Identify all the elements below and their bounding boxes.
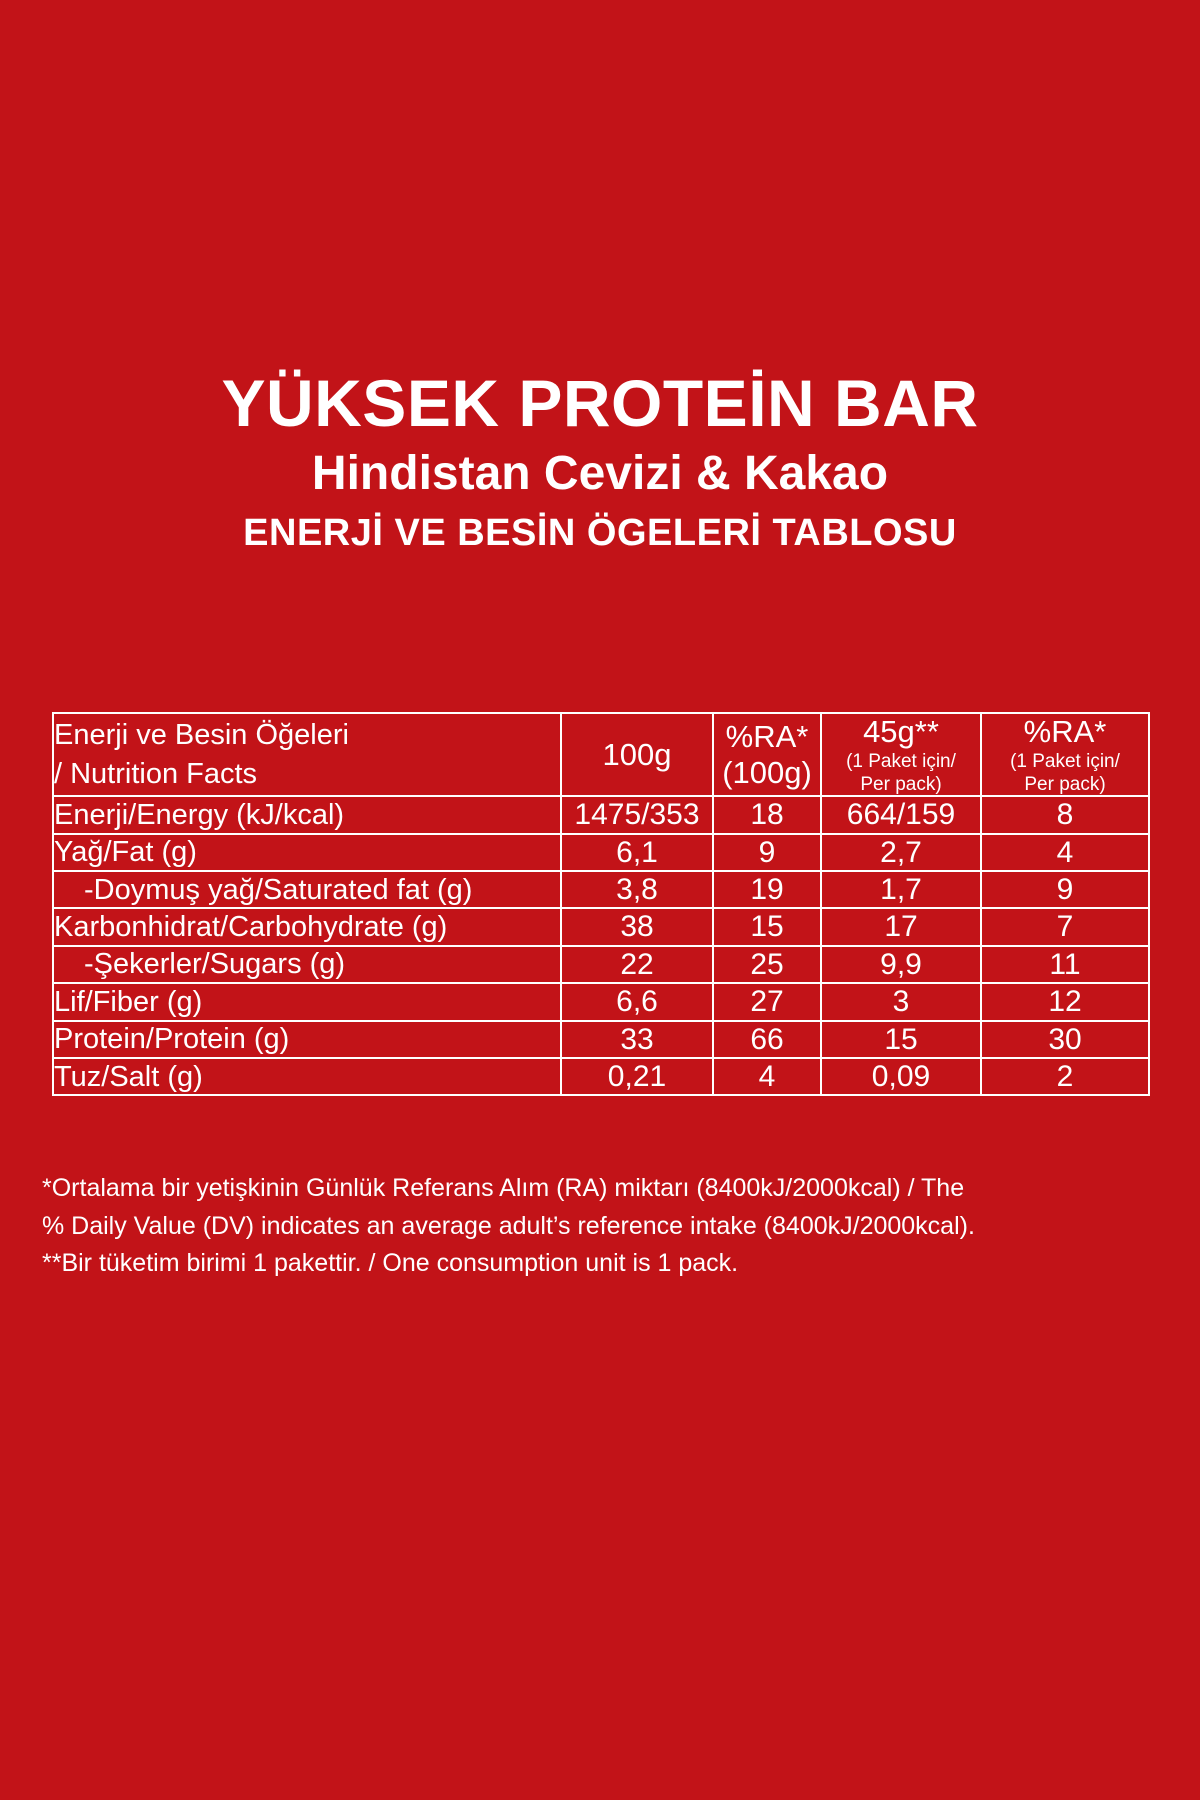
row-label: Karbonhidrat/Carbohydrate (g) bbox=[53, 908, 561, 945]
header-ra-pack-sub2: Per pack) bbox=[982, 774, 1148, 796]
header-ra-100g-main: %RA* bbox=[714, 719, 820, 755]
header-per-pack: 45g** (1 Paket için/ Per pack) bbox=[821, 713, 981, 796]
table-row: Karbonhidrat/Carbohydrate (g) 38 15 17 7 bbox=[53, 908, 1149, 945]
row-value-ra-100g: 66 bbox=[713, 1021, 821, 1058]
nutrition-table-body: Enerji/Energy (kJ/kcal) 1475/353 18 664/… bbox=[53, 796, 1149, 1095]
row-value-ra-100g: 9 bbox=[713, 834, 821, 871]
header-name-line1: Enerji ve Besin Öğeleri bbox=[54, 719, 349, 751]
row-value-ra-100g: 15 bbox=[713, 908, 821, 945]
row-value-per-pack: 664/159 bbox=[821, 796, 981, 833]
table-row: Lif/Fiber (g) 6,6 27 3 12 bbox=[53, 983, 1149, 1020]
table-row: -Şekerler/Sugars (g) 22 25 9,9 11 bbox=[53, 946, 1149, 983]
row-value-ra-pack: 11 bbox=[981, 946, 1149, 983]
row-value-per-100g: 0,21 bbox=[561, 1058, 713, 1095]
row-label: -Şekerler/Sugars (g) bbox=[53, 946, 561, 983]
row-value-ra-pack: 2 bbox=[981, 1058, 1149, 1095]
footnotes-block: *Ortalama bir yetişkinin Günlük Referans… bbox=[42, 1172, 1162, 1285]
table-row: Enerji/Energy (kJ/kcal) 1475/353 18 664/… bbox=[53, 796, 1149, 833]
row-value-ra-pack: 9 bbox=[981, 871, 1149, 908]
row-value-per-pack: 1,7 bbox=[821, 871, 981, 908]
row-value-ra-100g: 4 bbox=[713, 1058, 821, 1095]
header-ra-100g: %RA* (100g) bbox=[713, 713, 821, 796]
row-value-ra-pack: 30 bbox=[981, 1021, 1149, 1058]
header-per-100g: 100g bbox=[561, 713, 713, 796]
row-value-per-100g: 6,6 bbox=[561, 983, 713, 1020]
heading-block: YÜKSEK PROTEİN BAR Hindistan Cevizi & Ka… bbox=[0, 370, 1200, 554]
header-per-pack-sub2: Per pack) bbox=[822, 774, 980, 796]
row-label: Protein/Protein (g) bbox=[53, 1021, 561, 1058]
table-row: Tuz/Salt (g) 0,21 4 0,09 2 bbox=[53, 1058, 1149, 1095]
row-label: Lif/Fiber (g) bbox=[53, 983, 561, 1020]
row-value-ra-pack: 4 bbox=[981, 834, 1149, 871]
header-per-pack-sub1: (1 Paket için/ bbox=[822, 751, 980, 773]
row-label: Tuz/Salt (g) bbox=[53, 1058, 561, 1095]
table-row: Protein/Protein (g) 33 66 15 30 bbox=[53, 1021, 1149, 1058]
header-ra-100g-sub: (100g) bbox=[714, 755, 820, 791]
product-title: YÜKSEK PROTEİN BAR bbox=[0, 370, 1200, 437]
header-nutrition-facts: Enerji ve Besin Öğeleri / Nutrition Fact… bbox=[53, 713, 561, 796]
table-row: -Doymuş yağ/Saturated fat (g) 3,8 19 1,7… bbox=[53, 871, 1149, 908]
product-flavor-subtitle: Hindistan Cevizi & Kakao bbox=[0, 449, 1200, 499]
table-row: Yağ/Fat (g) 6,1 9 2,7 4 bbox=[53, 834, 1149, 871]
header-ra-pack-sub1: (1 Paket için/ bbox=[982, 751, 1148, 773]
row-value-per-100g: 3,8 bbox=[561, 871, 713, 908]
footnote-line-2: % Daily Value (DV) indicates an average … bbox=[42, 1210, 1162, 1244]
header-name-line2: / Nutrition Facts bbox=[54, 758, 257, 790]
header-per-pack-main: 45g** bbox=[822, 714, 980, 750]
header-per-100g-label: 100g bbox=[562, 737, 712, 773]
row-label: -Doymuş yağ/Saturated fat (g) bbox=[53, 871, 561, 908]
row-value-per-pack: 2,7 bbox=[821, 834, 981, 871]
row-value-per-100g: 22 bbox=[561, 946, 713, 983]
row-value-per-pack: 17 bbox=[821, 908, 981, 945]
footnote-line-3: **Bir tüketim birimi 1 pakettir. / One c… bbox=[42, 1247, 1162, 1281]
row-value-per-pack: 9,9 bbox=[821, 946, 981, 983]
section-title: ENERJİ VE BESİN ÖGELERİ TABLOSU bbox=[0, 514, 1200, 554]
row-value-ra-100g: 27 bbox=[713, 983, 821, 1020]
row-value-ra-pack: 12 bbox=[981, 983, 1149, 1020]
row-label: Enerji/Energy (kJ/kcal) bbox=[53, 796, 561, 833]
footnote-line-1: *Ortalama bir yetişkinin Günlük Referans… bbox=[42, 1172, 1162, 1206]
row-value-per-100g: 38 bbox=[561, 908, 713, 945]
row-value-ra-pack: 8 bbox=[981, 796, 1149, 833]
header-ra-pack: %RA* (1 Paket için/ Per pack) bbox=[981, 713, 1149, 796]
row-value-per-100g: 1475/353 bbox=[561, 796, 713, 833]
row-value-ra-100g: 25 bbox=[713, 946, 821, 983]
row-value-per-pack: 15 bbox=[821, 1021, 981, 1058]
table-header-row: Enerji ve Besin Öğeleri / Nutrition Fact… bbox=[53, 713, 1149, 796]
row-value-per-pack: 0,09 bbox=[821, 1058, 981, 1095]
row-value-ra-100g: 19 bbox=[713, 871, 821, 908]
row-value-ra-pack: 7 bbox=[981, 908, 1149, 945]
row-value-ra-100g: 18 bbox=[713, 796, 821, 833]
nutrition-table-container: Enerji ve Besin Öğeleri / Nutrition Fact… bbox=[52, 712, 1148, 1096]
row-value-per-pack: 3 bbox=[821, 983, 981, 1020]
header-ra-pack-main: %RA* bbox=[982, 714, 1148, 750]
row-value-per-100g: 6,1 bbox=[561, 834, 713, 871]
row-label: Yağ/Fat (g) bbox=[53, 834, 561, 871]
nutrition-table: Enerji ve Besin Öğeleri / Nutrition Fact… bbox=[52, 712, 1150, 1096]
nutrition-label-page: YÜKSEK PROTEİN BAR Hindistan Cevizi & Ka… bbox=[0, 0, 1200, 1800]
row-value-per-100g: 33 bbox=[561, 1021, 713, 1058]
